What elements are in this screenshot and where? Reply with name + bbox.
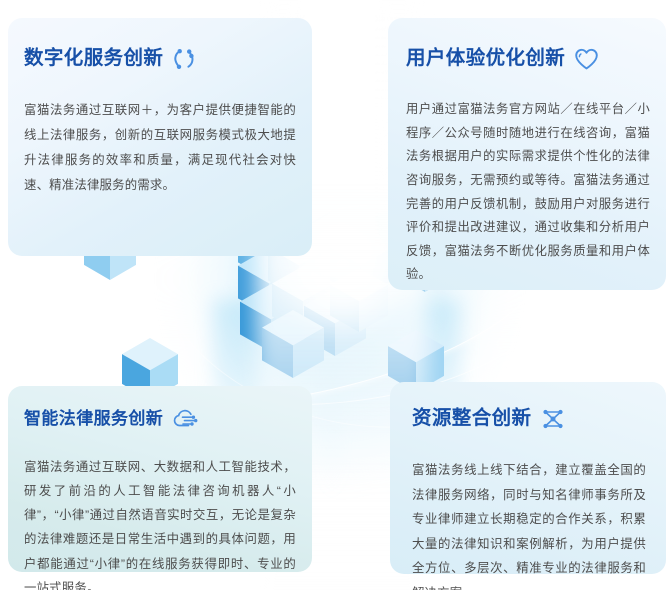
card-title: 用户体验优化创新 [406, 48, 565, 69]
cube-face-right [300, 250, 362, 318]
card-title-row: 用户体验优化创新 [406, 32, 650, 86]
cluster-cube-9 [272, 266, 334, 334]
card-title-row: 智能法律服务创新 [24, 396, 296, 443]
cube-face-left [272, 266, 334, 334]
cube-face-top [238, 248, 300, 316]
card-body: 富猫法务通过互联网＋，为客户提供便捷智能的线上法律服务，创新的互联网服务模式极大… [24, 98, 296, 198]
card-title-row: 资源整合创新 [412, 392, 646, 446]
cluster-cube-12 [330, 268, 388, 332]
cube-face-left [300, 250, 362, 318]
card-title: 智能法律服务创新 [24, 410, 163, 429]
cluster-cube-7 [330, 230, 392, 298]
cube-face-right [262, 310, 324, 378]
cube-face-top [330, 268, 388, 332]
cluster-cube-8 [240, 284, 302, 352]
cube-face-left [330, 268, 388, 332]
cube-face-right [240, 284, 302, 352]
card-resource-integration-innovation: 资源整合创新 富猫法务线上线下结合，建立覆盖全国的法律服务网络，同时与知名律师事… [390, 382, 666, 574]
heart-icon [573, 46, 600, 72]
cluster-cube-10 [304, 288, 366, 356]
cube-face-left [238, 248, 300, 316]
card-title: 数字化服务创新 [24, 48, 163, 69]
cube-face-top [300, 250, 362, 318]
cloud-ai-icon [171, 407, 201, 431]
cycle-network-icon [171, 46, 197, 72]
cube-face-right [272, 266, 334, 334]
card-title: 资源整合创新 [412, 408, 531, 429]
cube-face-left [330, 230, 392, 298]
card-smart-legal-service-innovation: 智能法律服务创新 富猫法务通过互联网、大数据和人工智能技术，研发了前沿的人工智能… [8, 386, 312, 572]
cluster-cube-4 [238, 248, 300, 316]
cube-face-left [262, 310, 324, 378]
card-body: 富猫法务线上线下结合，建立覆盖全国的法律服务网络，同时与知名律师事务所及专业律师… [412, 458, 646, 590]
cluster-cube-6 [300, 250, 362, 318]
cube-face-top [272, 266, 334, 334]
card-digital-service-innovation: 数字化服务创新 富猫法务通过互联网＋，为客户提供便捷智能的线上法律服务，创新的互… [8, 18, 312, 256]
cube-face-top [304, 288, 366, 356]
cube-face-top [240, 284, 302, 352]
card-body: 富猫法务通过互联网、大数据和人工智能技术，研发了前沿的人工智能法律咨询机器人“小… [24, 455, 296, 590]
cube-face-top [262, 310, 324, 378]
network-hub-icon [539, 406, 567, 432]
cube-face-left [304, 288, 366, 356]
cluster-cube-11 [262, 310, 324, 378]
cube-face-left [240, 284, 302, 352]
card-user-experience-innovation: 用户体验优化创新 用户通过富猫法务官方网站／在线平台／小程序／公众号随时随地进行… [388, 18, 666, 290]
cube-face-right [330, 268, 388, 332]
cube-face-right [304, 288, 366, 356]
cube-face-top [330, 230, 392, 298]
cube-face-right [330, 230, 392, 298]
card-body: 用户通过富猫法务官方网站／在线平台／小程序／公众号随时随地进行在线咨询，富猫法务… [406, 98, 650, 287]
cube-face-right [238, 248, 300, 316]
card-title-row: 数字化服务创新 [24, 32, 296, 86]
page-root: 数字化服务创新 富猫法务通过互联网＋，为客户提供便捷智能的线上法律服务，创新的互… [0, 0, 672, 590]
